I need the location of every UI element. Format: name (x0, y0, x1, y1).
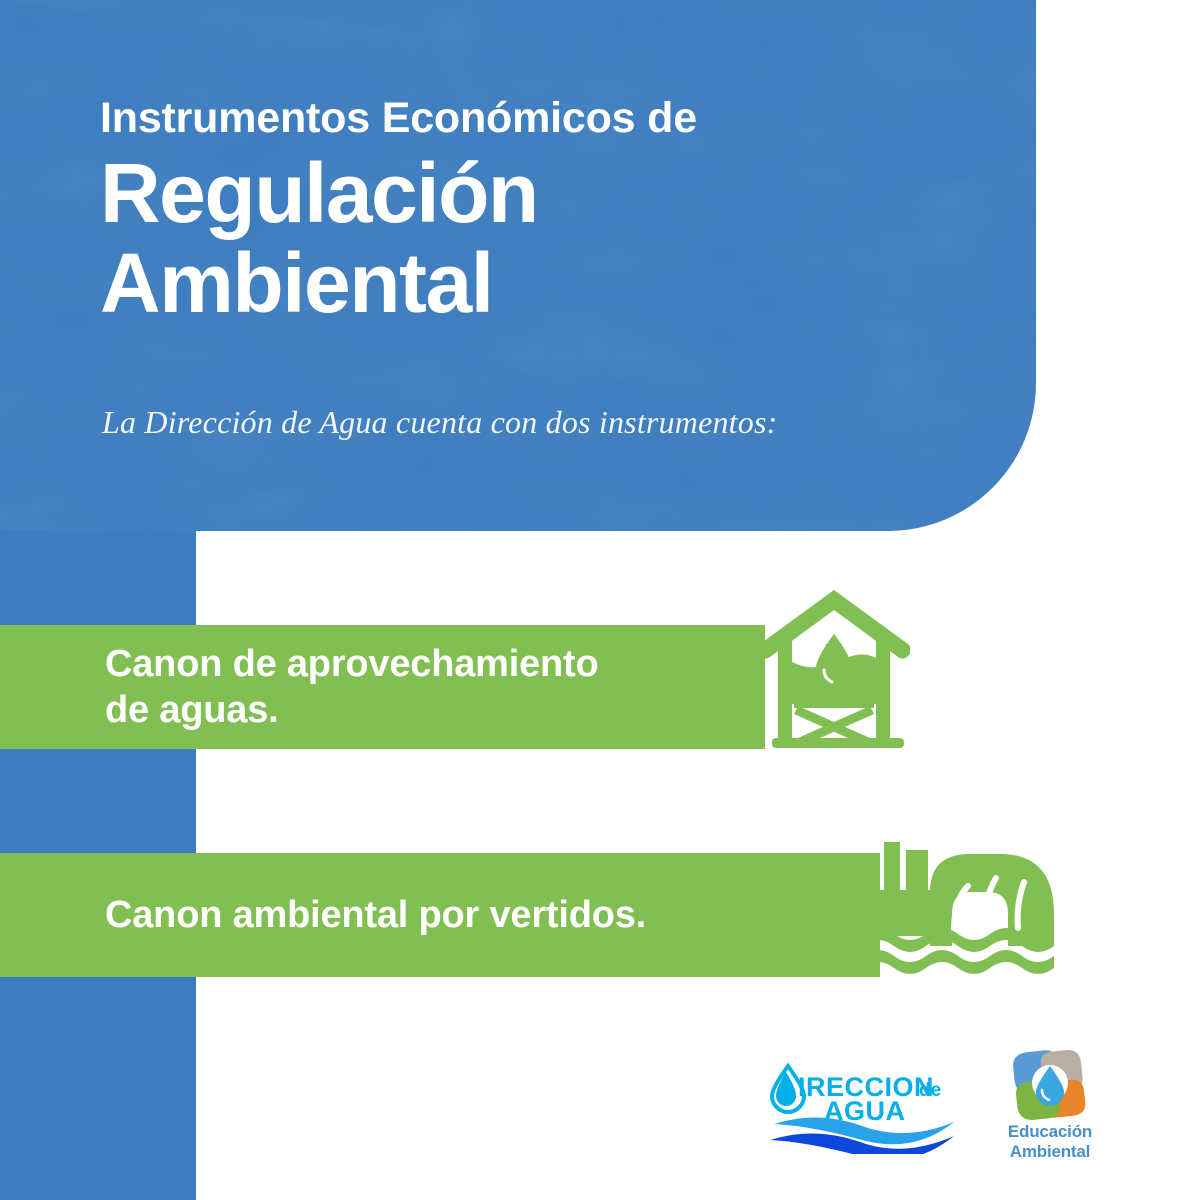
instrument-banner-2: Canon ambiental por vertidos. (0, 853, 880, 977)
water-tower-icon (758, 588, 910, 752)
title-eyebrow: Instrumentos Económicos de (100, 96, 1000, 141)
direccion-de-agua-logo: IRECCION de AGUA (768, 1062, 958, 1154)
educacion-ambiental-caption: Educación Ambiental (985, 1122, 1115, 1161)
wastewater-discharge-icon (862, 842, 1054, 982)
four-petal-drop-icon (1011, 1046, 1089, 1120)
title-main-line-2: Ambiental (100, 239, 1000, 329)
educacion-ambiental-logo: Educación Ambiental (985, 1046, 1115, 1164)
subtitle: La Dirección de Agua cuenta con dos inst… (102, 404, 778, 441)
instrument-banner-1: Canon de aprovechamiento de aguas. (0, 625, 765, 749)
instrument-banner-2-label: Canon ambiental por vertidos. (105, 892, 646, 938)
page-title: Instrumentos Económicos de Regulación Am… (100, 96, 1000, 329)
instrument-banner-1-label: Canon de aprovechamiento de aguas. (105, 641, 599, 734)
poster-canvas: Instrumentos Económicos de Regulación Am… (0, 0, 1200, 1200)
title-main-line-1: Regulación (100, 149, 1000, 239)
svg-text:de: de (919, 1080, 941, 1101)
